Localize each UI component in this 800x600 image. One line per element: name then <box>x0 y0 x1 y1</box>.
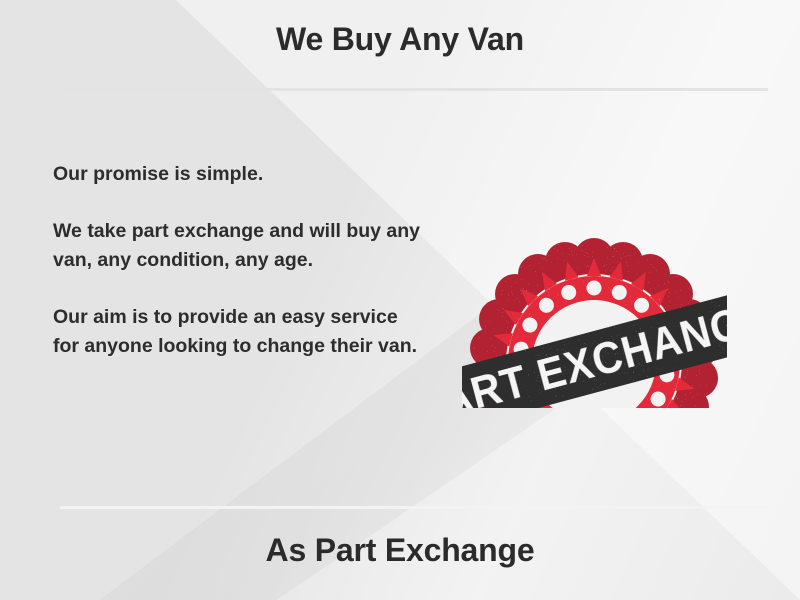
divider-top <box>60 88 768 91</box>
body-paragraph-1: Our promise is simple. <box>53 160 423 189</box>
divider-bottom <box>60 506 768 509</box>
page-title-bottom: As Part Exchange <box>0 532 800 569</box>
page-title-top: We Buy Any Van <box>0 21 800 58</box>
stamp-graphic: PART EXCHANGE <box>462 168 727 408</box>
slide-canvas: We Buy Any Van Our promise is simple. We… <box>0 0 800 600</box>
body-copy: Our promise is simple. We take part exch… <box>53 160 423 361</box>
body-paragraph-2: We take part exchange and will buy any v… <box>53 217 423 275</box>
body-paragraph-3: Our aim is to provide an easy service fo… <box>53 303 423 361</box>
part-exchange-stamp: PART EXCHANGE <box>462 168 727 408</box>
